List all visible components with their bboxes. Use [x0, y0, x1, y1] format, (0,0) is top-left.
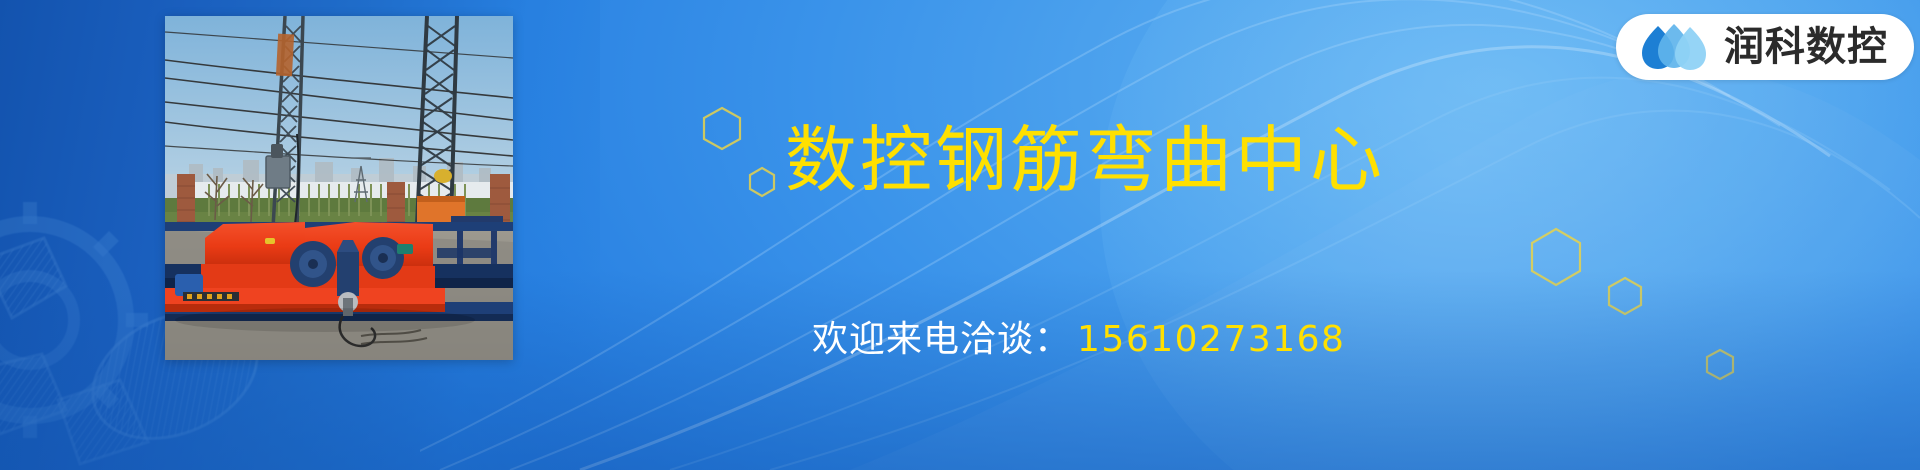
three-overlapping-droplets-icon	[1638, 22, 1710, 72]
contact-phone-number[interactable]: 15610273168	[1077, 319, 1345, 360]
brand-logo[interactable]: 润科数控	[1616, 14, 1914, 80]
contact-line: 欢迎来电洽谈：15610273168	[812, 320, 1345, 360]
contact-label: 欢迎来电洽谈：	[812, 319, 1071, 360]
cnc-rebar-bending-machine-photo	[165, 16, 513, 360]
promotional-banner: 数控钢筋弯曲中心 欢迎来电洽谈：15610273168 润科数控	[0, 0, 1920, 470]
page-title: 数控钢筋弯曲中心	[785, 124, 1385, 196]
brand-logo-text: 润科数控	[1724, 27, 1888, 67]
